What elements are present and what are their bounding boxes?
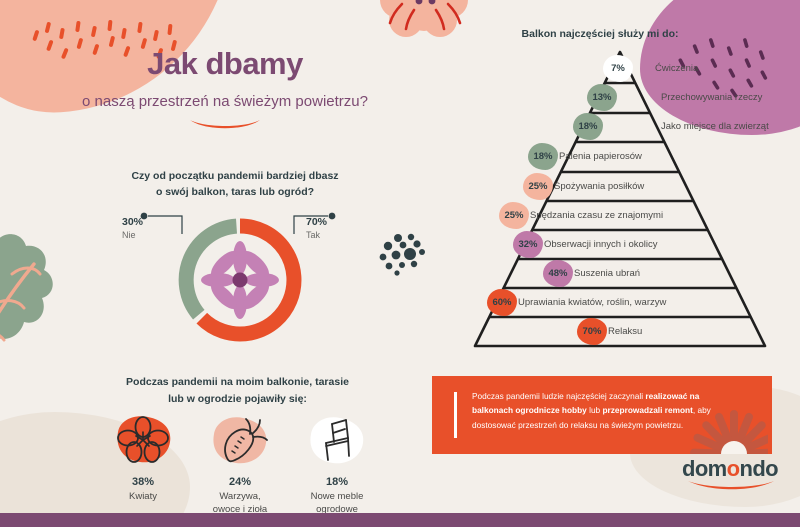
pyramid-pct: 70% — [582, 326, 601, 337]
donut-right-label: Tak — [306, 230, 352, 240]
pyramid-badge: 25% — [499, 202, 529, 229]
donut-question-line2: o swój balkon, taras lub ogród? — [105, 184, 365, 200]
pyramid-row: 32% Obserwacji innych i okolicy — [513, 231, 658, 258]
pyramid-row: 18% Palenia papierosów — [528, 143, 642, 170]
pyramid-heading: Balkon najczęściej służy mi do: — [440, 28, 760, 40]
pyramid-pct: 18% — [578, 121, 597, 132]
callout-accent-bar — [454, 392, 457, 438]
donut-right-value: 70% — [306, 216, 352, 228]
icons-heading-line2: lub w ogrodzie pojawiły się: — [95, 391, 380, 408]
pyramid-chart: 7% Ćwiczenia 13% Przechowywania rzeczy 1… — [455, 46, 785, 358]
flower-icon — [100, 412, 186, 468]
icon-stat-row: 38% Kwiaty 24% Warzyw — [100, 412, 380, 517]
icon-stat-pct: 24% — [197, 476, 283, 488]
pyramid-row: 70% Relaksu — [577, 318, 642, 345]
page-title: Jak dbamy — [30, 46, 420, 82]
callout-box: Podczas pandemii ludzie najczęściej zacz… — [432, 376, 772, 454]
footer-bar — [0, 513, 800, 527]
pyramid-label: Obserwacji innych i okolicy — [544, 239, 658, 250]
sunburst-flower-icon — [672, 398, 768, 454]
pyramid-row: 60% Uprawiania kwiatów, roślin, warzyw — [487, 289, 666, 316]
page-subtitle: o naszą przestrzeń na świeżym powietrzu? — [30, 93, 420, 110]
pyramid-row: 25% Spędzania czasu ze znajomymi — [499, 202, 663, 229]
pyramid-pct: 7% — [611, 63, 625, 74]
pyramid-badge: 25% — [523, 173, 553, 200]
pyramid-pct: 25% — [504, 210, 523, 221]
pyramid-row: 7% Ćwiczenia — [603, 55, 698, 82]
icons-heading-line1: Podczas pandemii na moim balkonie, taras… — [95, 374, 380, 391]
pyramid-pct: 60% — [492, 297, 511, 308]
pyramid-badge: 60% — [487, 289, 517, 316]
donut-legend-nie: 30% Nie — [122, 216, 164, 240]
pyramid-badge: 48% — [543, 260, 573, 287]
pyramid-badge: 7% — [603, 55, 633, 82]
pyramid-row: 25% Spożywania posiłków — [523, 173, 644, 200]
pyramid-row: 18% Jako miejsce dla zwierząt — [573, 113, 769, 140]
pyramid-badge: 32% — [513, 231, 543, 258]
pyramid-badge: 18% — [528, 143, 558, 170]
pyramid-row: 48% Suszenia ubrań — [543, 260, 640, 287]
icon-stat-warzywa: 24% Warzywa,owoce i zioła — [197, 412, 283, 517]
icon-stat-label: Kwiaty — [100, 491, 186, 504]
icon-stat-meble: 18% Nowe mebleogrodowe — [294, 412, 380, 517]
logo-accent-o: o — [727, 456, 740, 481]
logo-after: ndo — [739, 456, 778, 481]
pyramid-badge: 18% — [573, 113, 603, 140]
pyramid-badge: 13% — [587, 84, 617, 111]
pyramid-label: Spędzania czasu ze znajomymi — [530, 210, 663, 221]
donut-question: Czy od początku pandemii bardziej dbasz … — [105, 168, 365, 201]
callout-part1: Podczas pandemii ludzie najczęściej zacz… — [472, 391, 645, 401]
header: Jak dbamy o naszą przestrzeń na świeżym … — [30, 46, 420, 136]
icon-stat-pct: 38% — [100, 476, 186, 488]
orange-swoosh-icon — [187, 117, 263, 131]
oak-leaf-icon — [0, 222, 94, 382]
pyramid-label: Uprawiania kwiatów, roślin, warzyw — [518, 297, 666, 308]
icon-stat-kwiaty: 38% Kwiaty — [100, 412, 186, 517]
pyramid-pct: 13% — [592, 92, 611, 103]
icon-stat-pct: 18% — [294, 476, 380, 488]
donut-question-line1: Czy od początku pandemii bardziej dbasz — [105, 168, 365, 184]
pyramid-row: 13% Przechowywania rzeczy — [587, 84, 762, 111]
donut-legend-tak: 70% Tak — [306, 216, 352, 240]
pyramid-label: Relaksu — [608, 326, 642, 337]
logo-before: dom — [682, 456, 727, 481]
donut-chart — [175, 215, 305, 345]
donut-center-flower-icon — [201, 241, 279, 319]
pyramid-label: Przechowywania rzeczy — [661, 92, 762, 103]
donut-left-value: 30% — [122, 216, 164, 228]
infographic-canvas: Jak dbamy o naszą przestrzeń na świeżym … — [0, 0, 800, 527]
pyramid-pct: 18% — [533, 151, 552, 162]
pyramid-label: Ćwiczenia — [655, 63, 698, 74]
icons-heading: Podczas pandemii na moim balkonie, taras… — [95, 374, 380, 408]
pyramid-label: Suszenia ubrań — [574, 268, 640, 279]
callout-part2: lub — [587, 405, 603, 415]
pyramid-label: Palenia papierosów — [559, 151, 642, 162]
carrot-icon — [197, 412, 283, 468]
pyramid-badge: 70% — [577, 318, 607, 345]
domondo-logo: domondo — [682, 458, 778, 491]
pyramid-pct: 32% — [518, 239, 537, 250]
pyramid-label: Spożywania posiłków — [554, 181, 644, 192]
pyramid-label: Jako miejsce dla zwierząt — [661, 121, 769, 132]
logo-wordmark: domondo — [682, 458, 778, 480]
teal-dots-decoration — [378, 232, 434, 284]
pyramid-pct: 48% — [548, 268, 567, 279]
donut-left-label: Nie — [122, 230, 164, 240]
chair-icon — [294, 412, 380, 468]
pyramid-pct: 25% — [528, 181, 547, 192]
